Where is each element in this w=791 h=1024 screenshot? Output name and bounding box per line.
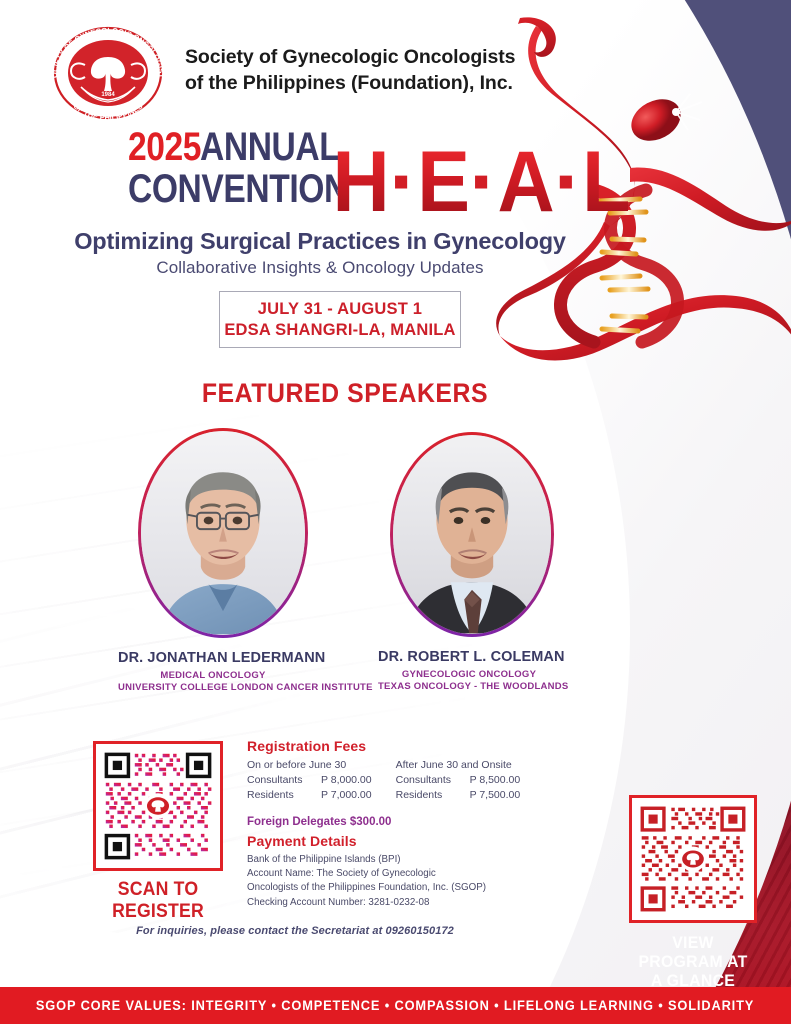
heal-dot-3: · <box>554 149 583 216</box>
org-name-line2: of the Philippines (Foundation), Inc. <box>185 71 535 97</box>
heal-letter-l: L <box>582 149 630 216</box>
speaker-specialty: GYNECOLOGIC ONCOLOGY <box>378 669 560 680</box>
registration-fees-heading: Registration Fees <box>247 738 577 754</box>
fees-late-column: After June 30 and Onsite Consultants P 8… <box>396 758 521 804</box>
foreign-delegates-fee: Foreign Delegates $300.00 <box>247 816 577 828</box>
fee-row: Residents P 7,000.00 <box>247 788 372 803</box>
sgop-seal-logo: SOCIETY OF GYNECOLOGIC ONCOLOGISTS · OF … <box>47 21 169 125</box>
convention-annual: ANNUAL <box>200 128 339 166</box>
core-values-bar: SGOP CORE VALUES: INTEGRITY • COMPETENCE… <box>0 987 791 1024</box>
heal-acronym: Harnessing H · Empowerment E · Advancing… <box>330 120 632 216</box>
logo-year: 1984 <box>101 92 115 98</box>
fees-late-header: After June 30 and Onsite <box>396 758 521 773</box>
core-values-text: SGOP CORE VALUES: INTEGRITY • COMPETENCE… <box>36 998 754 1013</box>
convention-year: 2025 <box>128 128 201 166</box>
organization-name: Society of Gynecologic Oncologists of th… <box>185 45 535 96</box>
speaker-card-coleman: DR. ROBERT L. COLEMAN GYNECOLOGIC ONCOLO… <box>390 432 560 692</box>
subtitle-main: Optimizing Surgical Practices in Gynecol… <box>0 228 640 255</box>
register-qr-code[interactable] <box>93 741 223 871</box>
speaker-name: DR. JONATHAN LEDERMANN <box>118 650 308 666</box>
qr-center-logo <box>680 846 705 871</box>
register-qr-block[interactable]: SCAN TO REGISTER <box>93 741 223 923</box>
speaker-name: DR. ROBERT L. COLEMAN <box>378 649 560 665</box>
fee-label: Residents <box>247 788 321 803</box>
view-program-label: VIEW PROGRAM AT A GLANCE <box>633 933 752 990</box>
speaker-photo-ring <box>138 428 308 638</box>
heal-letter-e: E <box>417 149 470 216</box>
speaker-photo-ring <box>390 432 554 637</box>
payment-details-heading: Payment Details <box>247 833 577 849</box>
payment-bank: Bank of the Philippine Islands (BPI) <box>247 853 577 867</box>
view-program-line1: VIEW PROGRAM AT <box>633 933 752 971</box>
payment-account-name-2: Oncologists of the Philippines Foundatio… <box>247 881 577 895</box>
program-qr-block[interactable]: VIEW PROGRAM AT A GLANCE <box>629 795 757 990</box>
fee-row: Consultants P 8,000.00 <box>247 773 372 788</box>
fee-row: Residents P 7,500.00 <box>396 788 521 803</box>
fee-label: Consultants <box>396 773 470 788</box>
fees-early-column: On or before June 30 Consultants P 8,000… <box>247 758 372 804</box>
fees-early-header: On or before June 30 <box>247 758 372 773</box>
heal-letter-a: A <box>497 149 554 216</box>
scan-to-register-label: SCAN TO REGISTER <box>98 879 219 923</box>
event-venue: EDSA SHANGRI-LA, MANILA <box>224 321 455 340</box>
fee-amount: P 8,000.00 <box>321 773 372 788</box>
convention-poster: SOCIETY OF GYNECOLOGIC ONCOLOGISTS · OF … <box>0 0 791 1024</box>
speaker-affiliation: UNIVERSITY COLLEGE LONDON CANCER INSTITU… <box>118 682 308 693</box>
fee-amount: P 7,500.00 <box>470 788 521 803</box>
fee-row: Consultants P 8,500.00 <box>396 773 521 788</box>
org-name-line1: Society of Gynecologic Oncologists <box>185 45 535 71</box>
speaker-photo-ledermann <box>141 431 305 635</box>
program-qr-code[interactable] <box>629 795 757 923</box>
registration-fees-section: Registration Fees On or before June 30 C… <box>247 738 577 828</box>
speaker-photo-coleman <box>393 435 551 634</box>
fee-label: Consultants <box>247 773 321 788</box>
speaker-specialty: MEDICAL ONCOLOGY <box>118 670 308 681</box>
event-date-venue-box: JULY 31 - AUGUST 1 EDSA SHANGRI-LA, MANI… <box>219 291 461 348</box>
payment-account-number: Checking Account Number: 3281-0232-08 <box>247 896 577 910</box>
speaker-affiliation: TEXAS ONCOLOGY - THE WOODLANDS <box>378 681 560 692</box>
qr-center-logo <box>145 793 171 819</box>
speaker-card-ledermann: DR. JONATHAN LEDERMANN MEDICAL ONCOLOGY … <box>138 428 308 693</box>
featured-speakers-heading: FEATURED SPEAKERS <box>28 378 663 409</box>
fee-label: Residents <box>396 788 470 803</box>
fee-amount: P 8,500.00 <box>470 773 521 788</box>
inquiry-line: For inquiries, please contact the Secret… <box>105 925 485 937</box>
heal-dot-1: · <box>389 149 418 216</box>
subtitle-secondary: Collaborative Insights & Oncology Update… <box>0 258 640 278</box>
event-dates: JULY 31 - AUGUST 1 <box>258 300 422 319</box>
heal-letter-h: H <box>332 149 389 216</box>
fee-amount: P 7,000.00 <box>321 788 372 803</box>
heal-dot-2: · <box>469 149 498 216</box>
payment-account-name-1: Account Name: The Society of Gynecologic <box>247 867 577 881</box>
payment-details-section: Payment Details Bank of the Philippine I… <box>247 833 577 910</box>
